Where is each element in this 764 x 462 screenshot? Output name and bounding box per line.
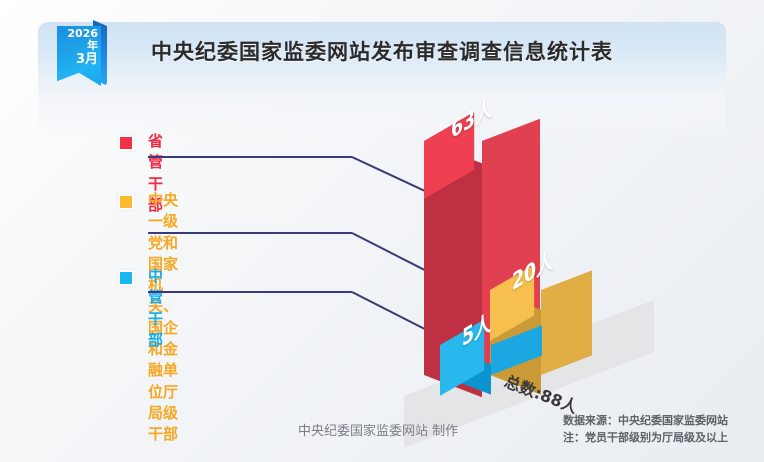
footer-notes: 数据来源：中央纪委国家监委网站 注：党员干部级别为厅局级及以上 [563,412,728,446]
isometric-bar-chart: 63人 20人 5人 总数:88人 [0,0,764,462]
footer-credit: 中央纪委国家监委网站 制作 [298,420,458,439]
infographic-canvas: 2026年 3月 中央纪委国家监委网站发布审查调查信息统计表 省管干部 中央一级… [0,0,764,462]
